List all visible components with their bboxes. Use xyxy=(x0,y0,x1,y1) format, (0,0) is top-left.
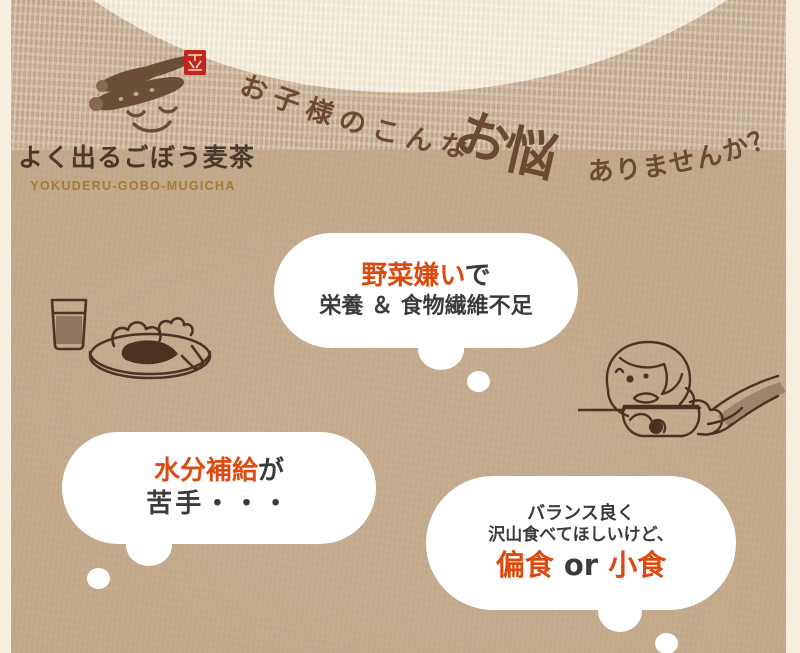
bubble-line: 沢山食べてほしいけど、 xyxy=(488,525,673,547)
bubble-line: 水分補給が xyxy=(154,455,284,488)
bubble-tail xyxy=(418,328,464,370)
page-root: よく出るごぼう麦茶 YOKUDERU-GOBO-MUGICHA お子様のこんな … xyxy=(0,0,800,653)
bubble-segment: が xyxy=(258,456,284,486)
bubble-line: 偏食 or 小食 xyxy=(496,547,666,584)
bubble-tail-dot xyxy=(467,371,490,392)
bubble-line: 野菜嫌いで xyxy=(361,260,490,293)
bubble-line: バランス良く xyxy=(527,502,635,525)
bubble-segment: 偏食 xyxy=(496,548,554,582)
bubble-tail-dot xyxy=(87,568,110,589)
headline: お子様のこんな お悩み ありませんか？ xyxy=(0,28,800,188)
bubble-segment: 野菜嫌い xyxy=(361,261,464,291)
food-illustration-icon xyxy=(40,286,230,391)
bubble-segment: or xyxy=(554,548,608,582)
bubble-tail-dot xyxy=(655,633,678,653)
bubble-picky-eating: バランス良く 沢山食べてほしいけど、 偏食 or 小食 xyxy=(426,476,736,610)
bubble-segment: で xyxy=(465,261,491,291)
bubble-line: 苦手・・・ xyxy=(146,488,292,521)
bubble-tail xyxy=(598,590,642,632)
bubble-segment: 沢山食べてほしいけど、 xyxy=(488,525,673,545)
headline-part-small: お子様のこんな xyxy=(236,70,478,166)
bubble-tail xyxy=(126,524,172,566)
bubble-line: 栄養 ＆ 食物繊維不足 xyxy=(319,293,532,321)
bubble-hydration: 水分補給が 苦手・・・ xyxy=(62,432,376,544)
headline-part-tail: ありませんか？ xyxy=(587,122,781,188)
bubble-segment: 水分補給 xyxy=(154,456,258,486)
right-edge-rail xyxy=(786,0,800,653)
bubble-vegetable-dislike: 野菜嫌いで 栄養 ＆ 食物繊維不足 xyxy=(274,233,578,348)
child-illustration-icon xyxy=(578,332,788,467)
bubble-segment: 栄養 ＆ 食物繊維不足 xyxy=(319,294,532,319)
bubble-segment: 小食 xyxy=(608,548,666,582)
left-edge-rail xyxy=(0,0,11,653)
bubble-segment: 苦手・・・ xyxy=(146,489,292,519)
bubble-segment: バランス良く xyxy=(527,503,635,524)
